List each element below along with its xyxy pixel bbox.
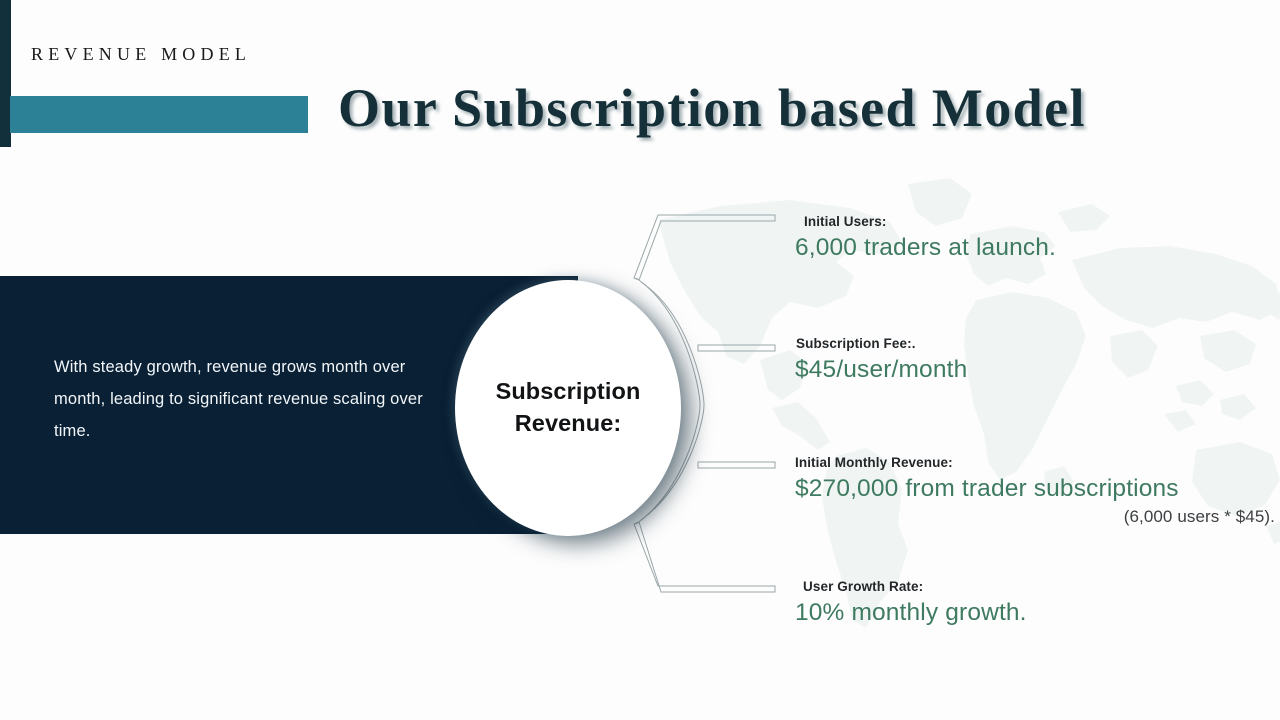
page-title: Our Subscription based Model — [338, 80, 1086, 137]
item-value: $45/user/month — [795, 356, 967, 384]
item-value: $270,000 from trader subscriptions — [795, 475, 1275, 503]
eyebrow-label: REVENUE MODEL — [31, 44, 251, 65]
list-item: Initial Monthly Revenue: $270,000 from t… — [795, 455, 1275, 527]
item-label: User Growth Rate: — [803, 579, 1027, 594]
item-value: 10% monthly growth. — [795, 599, 1027, 627]
item-label: Initial Users: — [804, 214, 1056, 229]
description-paragraph: With steady growth, revenue grows month … — [54, 352, 424, 448]
item-subtext: (6,000 users * $45). — [795, 507, 1275, 527]
list-item: Subscription Fee:. $45/user/month — [795, 336, 967, 384]
item-value: 6,000 traders at launch. — [795, 234, 1056, 262]
hub-circle-label-text: Subscription Revenue: — [455, 376, 681, 440]
hub-circle-label: Subscription Revenue: — [455, 280, 681, 536]
list-item: Initial Users: 6,000 traders at launch. — [795, 214, 1056, 262]
teal-accent-bar — [10, 96, 308, 133]
list-item: User Growth Rate: 10% monthly growth. — [795, 579, 1027, 627]
slide-canvas: REVENUE MODEL Our Subscription based Mod… — [0, 0, 1280, 720]
item-label: Initial Monthly Revenue: — [795, 455, 1275, 470]
item-label: Subscription Fee:. — [796, 336, 967, 351]
